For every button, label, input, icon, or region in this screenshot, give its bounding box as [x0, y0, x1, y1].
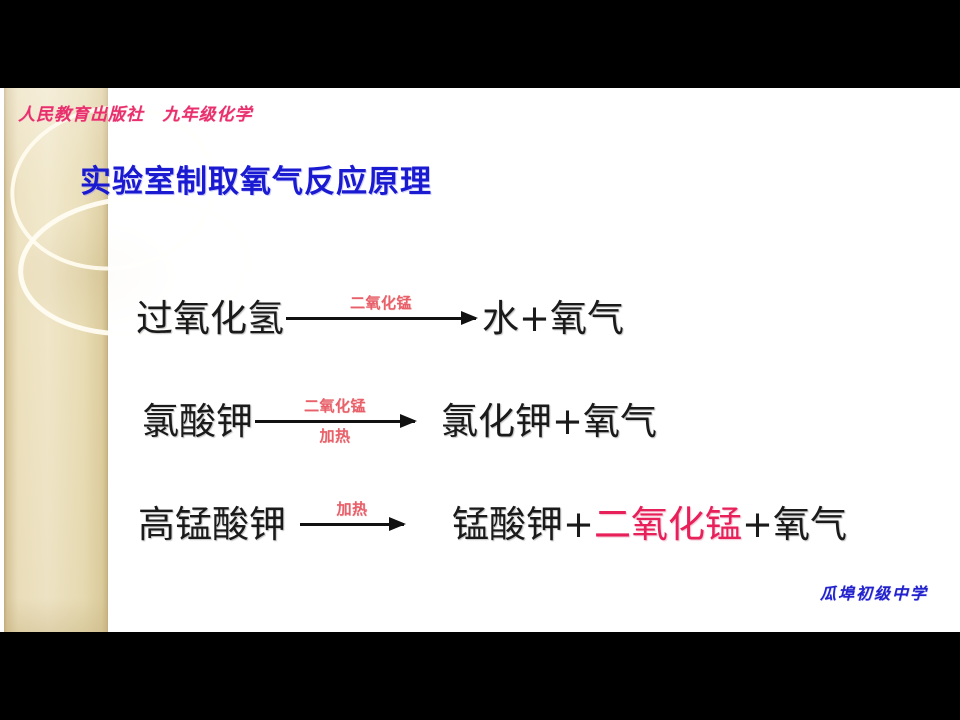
equation-3-plus-0: + — [563, 506, 594, 543]
publisher-name: 人民教育出版社 — [18, 105, 144, 125]
equation-3-plus-1: + — [742, 506, 773, 543]
equation-2-product-0: 氯化钾 — [441, 403, 552, 440]
reaction-equation-2: 氯酸钾 二氧化锰 加热 氯化钾 + 氧气 — [142, 403, 657, 440]
equation-2-condition-above: 二氧化锰 — [255, 399, 415, 414]
equation-1-arrow: 二氧化锰 — [286, 317, 476, 320]
reaction-equation-1: 过氧化氢 二氧化锰 水 + 氧气 — [136, 300, 624, 337]
equation-3-product-2: 氧气 — [773, 506, 847, 543]
equation-3-condition-above: 加热 — [300, 502, 404, 517]
publisher-header: 人民教育出版社 九年级化学 — [18, 100, 252, 125]
video-frame: 人民教育出版社 九年级化学 实验室制取氧气反应原理 过氧化氢 二氧化锰 水 + … — [0, 0, 960, 720]
arrow-line-icon — [286, 317, 476, 320]
arrow-line-icon — [255, 420, 415, 423]
grade-subject-label: 九年级化学 — [162, 105, 252, 125]
equation-2-condition-below: 加热 — [255, 429, 415, 444]
equation-2-arrow: 二氧化锰 加热 — [255, 420, 415, 423]
equation-1-product-0: 水 — [482, 300, 519, 337]
equation-1-plus-0: + — [519, 300, 550, 337]
equation-2-reactant: 氯酸钾 — [142, 403, 253, 440]
equation-1-reactant: 过氧化氢 — [136, 300, 284, 337]
equation-1-product-1: 氧气 — [550, 300, 624, 337]
equation-2-plus-0: + — [552, 403, 583, 440]
equation-3-product-0: 锰酸钾 — [452, 506, 563, 543]
equation-3-product-1-highlight: 二氧化锰 — [594, 506, 742, 543]
reaction-equation-3: 高锰酸钾 加热 锰酸钾 + 二氧化锰 + 氧气 — [138, 506, 847, 543]
equation-3-arrow: 加热 — [300, 523, 404, 526]
school-watermark: 瓜埠初级中学 — [820, 580, 928, 604]
equation-3-reactant: 高锰酸钾 — [138, 506, 286, 543]
arrow-line-icon — [300, 523, 404, 526]
band-footer-shade — [4, 598, 108, 632]
slide-canvas: 人民教育出版社 九年级化学 实验室制取氧气反应原理 过氧化氢 二氧化锰 水 + … — [0, 88, 960, 632]
page-title: 实验室制取氧气反应原理 — [80, 156, 432, 201]
equation-2-product-1: 氧气 — [583, 403, 657, 440]
equation-1-condition-above: 二氧化锰 — [286, 296, 476, 311]
